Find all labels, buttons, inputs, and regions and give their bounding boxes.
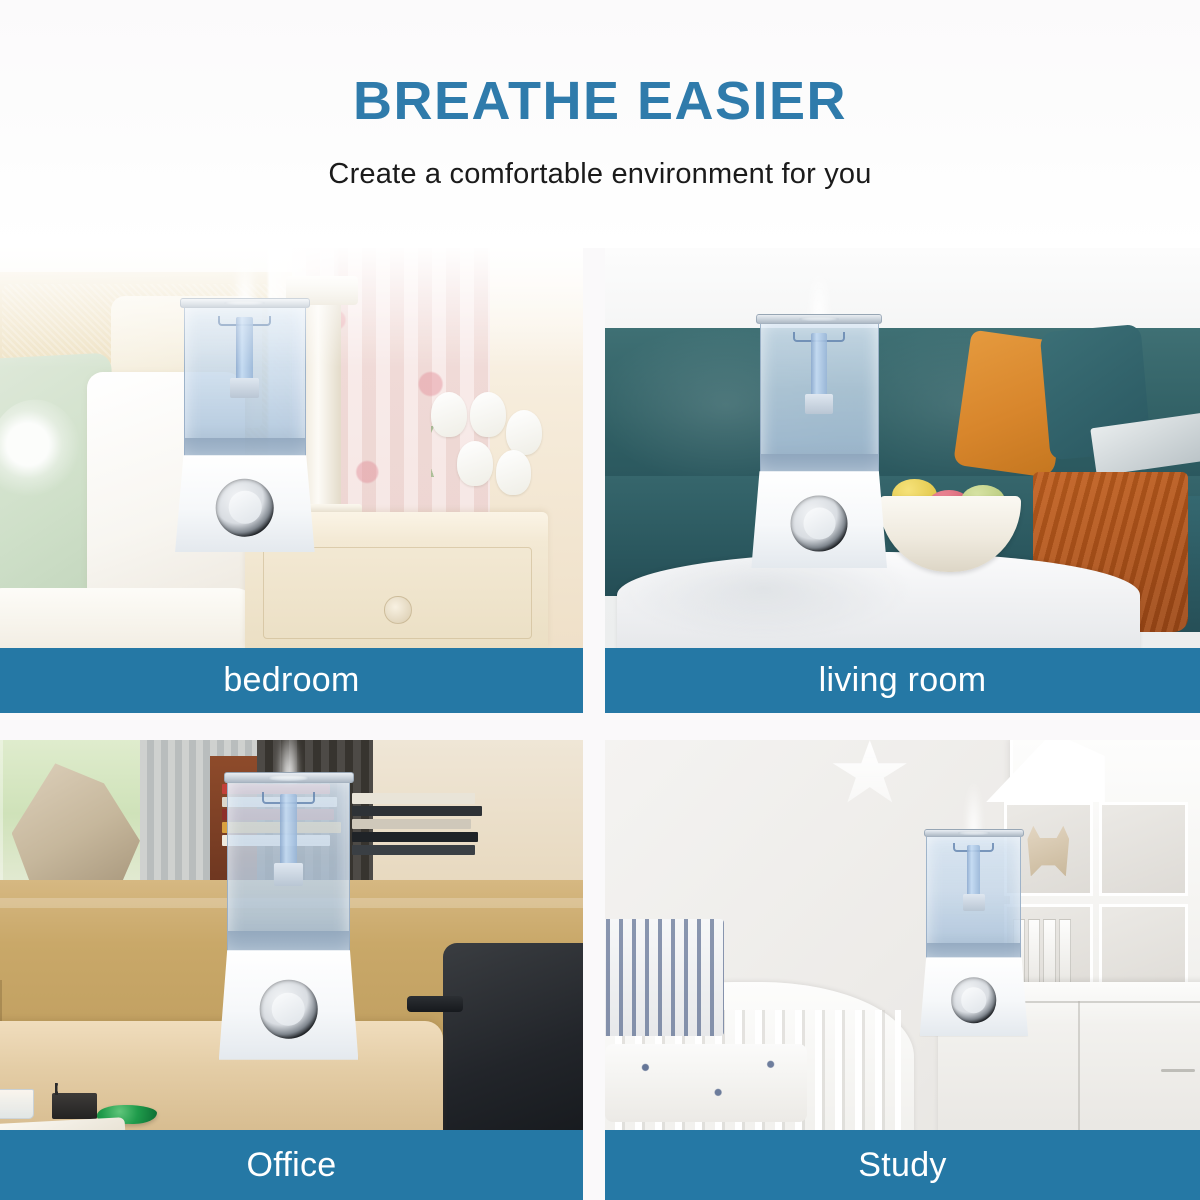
nozzle-cone [805, 394, 833, 414]
shelf-cubby [1099, 802, 1188, 896]
control-knob [951, 977, 997, 1023]
base-housing [751, 471, 887, 568]
nozzle-cone [963, 894, 985, 910]
water-tank [926, 834, 1021, 960]
panel-caption-study: Study [605, 1130, 1200, 1200]
panel-bedroom-photo [0, 248, 583, 648]
top-lid [224, 772, 354, 783]
tulip-bloom [431, 392, 467, 437]
page-title: BREATHE EASIER [353, 74, 847, 128]
book [352, 793, 475, 804]
tulip-bloom [506, 410, 542, 455]
office-chair [443, 943, 583, 1130]
top-lid [180, 298, 310, 308]
water-tank [184, 304, 306, 458]
humidifier-product [926, 834, 1021, 1037]
page-subtitle: Create a comfortable environment for you [328, 158, 871, 191]
book [352, 832, 479, 843]
tulip-bloom [496, 450, 532, 495]
panel-study-photo [605, 740, 1200, 1130]
room-panel-grid: bedroom [0, 248, 1200, 1200]
crib-blanket [605, 919, 724, 1036]
control-knob [216, 478, 275, 537]
top-lid [924, 829, 1025, 837]
base-housing [175, 455, 315, 552]
pen-cup [52, 1093, 97, 1119]
book [352, 806, 482, 817]
tulip-bloom [470, 392, 506, 437]
bed-sheet [0, 588, 257, 648]
book [352, 819, 471, 830]
humidifier-product [227, 779, 349, 1060]
panel-bedroom[interactable]: bedroom [0, 248, 583, 713]
nozzle-cone [274, 863, 303, 886]
scene-office [0, 740, 583, 1130]
scene-living-room [605, 248, 1200, 648]
humidifier-product [184, 304, 306, 552]
panel-office-photo [0, 740, 583, 1130]
panel-caption-office: Office [0, 1130, 583, 1200]
scene-study [605, 740, 1200, 1130]
panel-caption-living-room: living room [605, 648, 1200, 713]
papers [0, 1118, 125, 1130]
crib-pillow [605, 1044, 807, 1122]
panel-office[interactable]: Office [0, 740, 583, 1200]
base-housing [219, 950, 359, 1060]
water-level [185, 438, 305, 458]
book [352, 845, 475, 856]
control-knob [791, 495, 848, 552]
nozzle-cone [230, 378, 259, 398]
tulip-bouquet [431, 392, 559, 504]
water-level [927, 943, 1020, 959]
tulip-bloom [457, 441, 493, 486]
dresser-handle [1161, 1069, 1195, 1071]
control-knob [259, 980, 318, 1039]
water-glass [0, 1089, 34, 1119]
panel-study[interactable]: Study [605, 740, 1200, 1200]
water-level [761, 454, 878, 474]
top-lid [756, 314, 882, 324]
drawer-knob [384, 596, 411, 623]
water-level [228, 931, 348, 953]
water-tank [760, 320, 879, 474]
panel-caption-bedroom: bedroom [0, 648, 583, 713]
scene-bedroom [0, 248, 583, 648]
humidifier-product [760, 320, 879, 568]
base-housing [920, 957, 1029, 1036]
panel-living-room-photo [605, 248, 1200, 648]
page-header: BREATHE EASIER Create a comfortable envi… [0, 0, 1200, 248]
panel-living-room[interactable]: living room [605, 248, 1200, 713]
water-tank [227, 779, 349, 953]
